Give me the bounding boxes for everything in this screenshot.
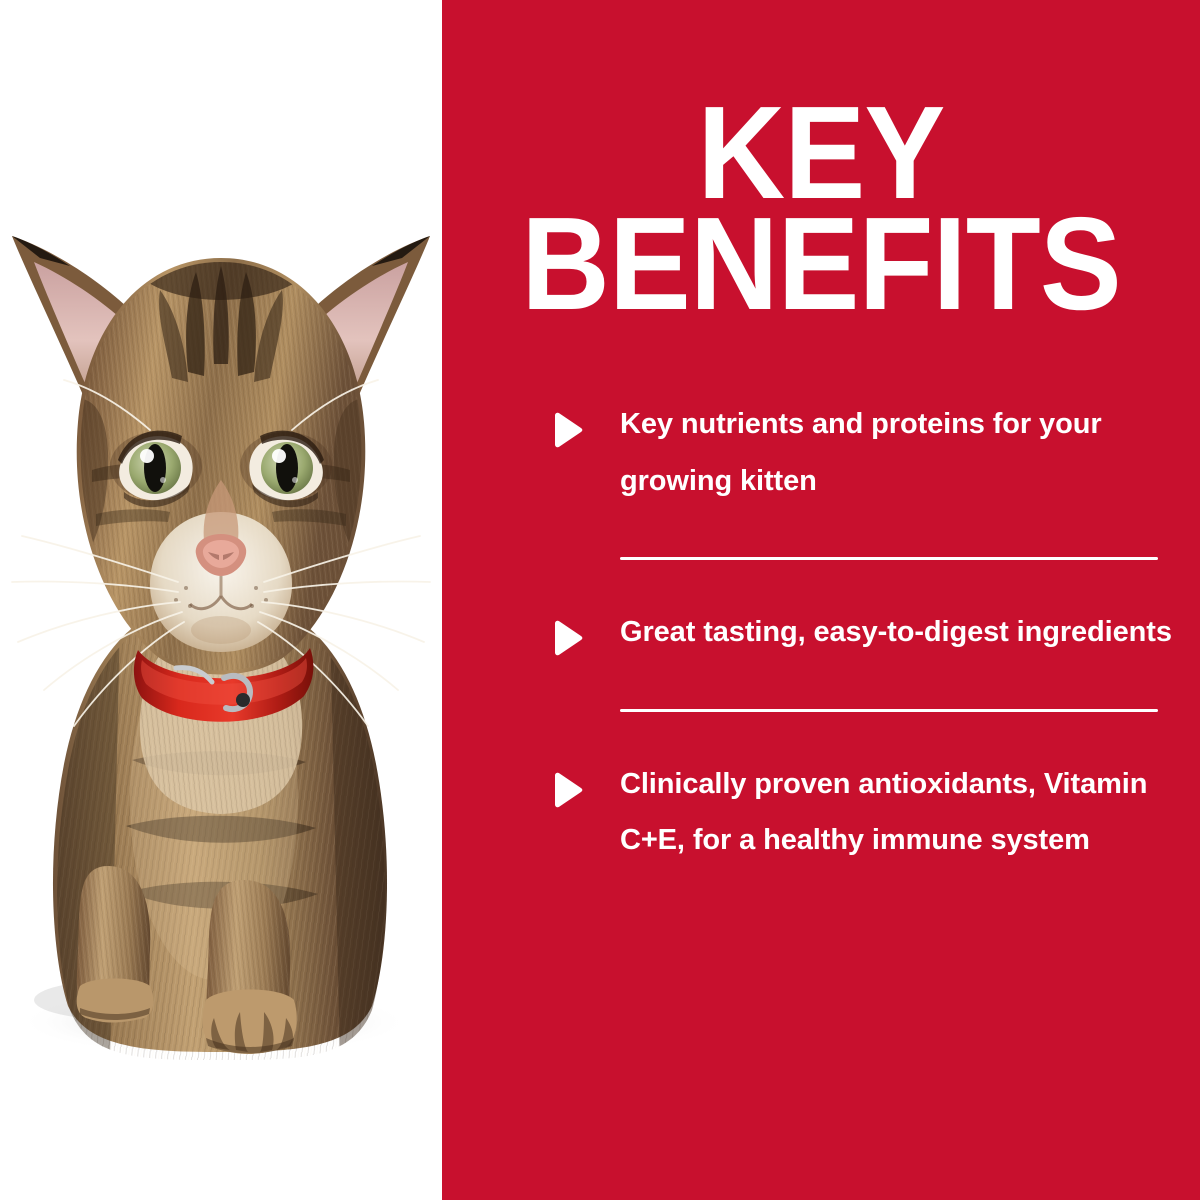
- spacer-1: [442, 509, 1200, 557]
- benefit-item-nutrients: Key nutrients and proteins for your grow…: [442, 396, 1200, 509]
- page-title: KEY BENEFITS: [442, 98, 1200, 320]
- title-line-benefits: BENEFITS: [469, 209, 1174, 320]
- triangle-right-icon: [550, 772, 584, 808]
- key-benefits-panel: KEY BENEFITS Key nutrients and proteins …: [442, 0, 1200, 1200]
- benefit-text-nutrients: Key nutrients and proteins for your grow…: [620, 396, 1180, 509]
- triangle-right-icon: [550, 620, 584, 656]
- benefit-item-taste: Great tasting, easy-to-digest ingredient…: [442, 604, 1200, 661]
- kitten-photo: [0, 0, 442, 1200]
- benefits-list: Key nutrients and proteins for your grow…: [442, 396, 1200, 869]
- benefit-item-antioxidants: Clinically proven antioxidants, Vitamin …: [442, 756, 1200, 869]
- kitten-photo-panel: [0, 0, 442, 1200]
- spacer-2: [442, 560, 1200, 604]
- spacer-3: [442, 661, 1200, 709]
- key-benefits-promo-image: KEY BENEFITS Key nutrients and proteins …: [0, 0, 1200, 1200]
- benefit-text-antioxidants: Clinically proven antioxidants, Vitamin …: [620, 756, 1180, 869]
- spacer-4: [442, 712, 1200, 756]
- benefit-text-taste: Great tasting, easy-to-digest ingredient…: [620, 604, 1172, 661]
- triangle-right-icon: [550, 412, 584, 448]
